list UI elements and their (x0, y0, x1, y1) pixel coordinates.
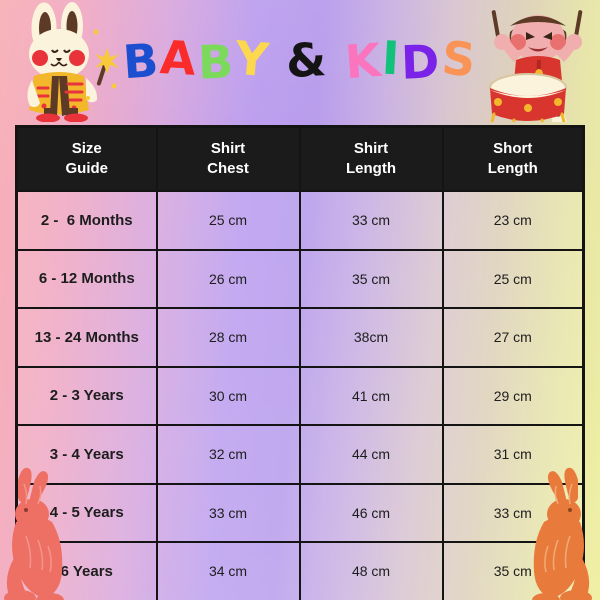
cell-shirt-chest: 33 cm (157, 484, 300, 543)
cell-short-length: 31 cm (443, 425, 584, 484)
title-letter: D (401, 38, 443, 85)
poster-title-text: BABY&KIDS (123, 37, 476, 83)
cell-short-length: 29 cm (443, 367, 584, 426)
cell-shirt-chest: 26 cm (157, 250, 300, 309)
cell-shirt-chest: 30 cm (157, 367, 300, 426)
cell-shirt-length: 44 cm (300, 425, 443, 484)
size-guide-table: Size Guide Shirt Chest Shirt Length Shor… (15, 125, 585, 600)
table-row: 6 - 12 Months 26 cm 35 cm 25 cm (17, 250, 584, 309)
cell-shirt-length: 33 cm (300, 191, 443, 250)
cell-short-length: 33 cm (443, 484, 584, 543)
cell-size: 6 - 12 Months (17, 250, 157, 309)
table-row: 2 - 3 Years 30 cm 41 cm 29 cm (17, 367, 584, 426)
title-letter: K (343, 37, 384, 86)
bunny-new-year-mascot-icon (8, 2, 126, 122)
cell-short-length: 23 cm (443, 191, 584, 250)
title-letter: & (285, 36, 329, 84)
title-letter: B (197, 38, 236, 85)
table-row: 6 Years 34 cm 48 cm 35 cm (17, 542, 584, 600)
cell-size: 6 Years (17, 542, 157, 600)
cell-short-length: 35 cm (443, 542, 584, 600)
column-header-size-guide: Size Guide (17, 127, 157, 192)
table-row: 3 - 4 Years 32 cm 44 cm 31 cm (17, 425, 584, 484)
poster-title: BABY&KIDS (0, 20, 600, 100)
title-letter: Y (233, 35, 272, 84)
cell-shirt-length: 48 cm (300, 542, 443, 600)
cell-shirt-length: 46 cm (300, 484, 443, 543)
title-letter: S (440, 35, 479, 84)
drummer-boy-mascot-icon (480, 2, 598, 122)
title-letter: B (122, 37, 162, 85)
title-letter: I (381, 35, 403, 82)
table-body: 2 - 6 Months 25 cm 33 cm 23 cm 6 - 12 Mo… (17, 191, 584, 600)
cell-size: 3 - 4 Years (17, 425, 157, 484)
title-letter: A (159, 34, 199, 82)
cell-size: 13 - 24 Months (17, 308, 157, 367)
cell-short-length: 27 cm (443, 308, 584, 367)
cell-shirt-chest: 28 cm (157, 308, 300, 367)
cell-shirt-chest: 25 cm (157, 191, 300, 250)
column-header-shirt-chest: Shirt Chest (157, 127, 300, 192)
cell-size: 2 - 3 Years (17, 367, 157, 426)
column-header-shirt-length: Shirt Length (300, 127, 443, 192)
cell-shirt-chest: 34 cm (157, 542, 300, 600)
table-row: 2 - 6 Months 25 cm 33 cm 23 cm (17, 191, 584, 250)
cell-short-length: 25 cm (443, 250, 584, 309)
cell-shirt-length: 41 cm (300, 367, 443, 426)
cell-shirt-length: 38cm (300, 308, 443, 367)
cell-size: 4 - 5 Years (17, 484, 157, 543)
cell-size: 2 - 6 Months (17, 191, 157, 250)
cell-shirt-length: 35 cm (300, 250, 443, 309)
table-header-row: Size Guide Shirt Chest Shirt Length Shor… (17, 127, 584, 192)
table-row: 4 - 5 Years 33 cm 46 cm 33 cm (17, 484, 584, 543)
size-guide-poster: BABY&KIDS Size Guide Shirt Chest Shirt L… (0, 0, 600, 600)
cell-shirt-chest: 32 cm (157, 425, 300, 484)
table-head: Size Guide Shirt Chest Shirt Length Shor… (17, 127, 584, 192)
column-header-short-length: Short Length (443, 127, 584, 192)
table-row: 13 - 24 Months 28 cm 38cm 27 cm (17, 308, 584, 367)
